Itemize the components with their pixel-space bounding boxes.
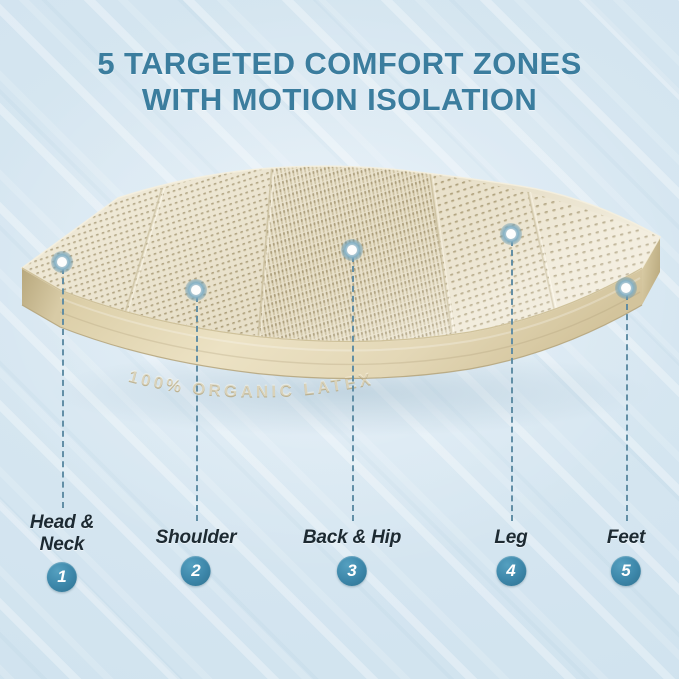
legend-item-3[interactable]: Back & Hip 3 [303,527,401,586]
zone-marker-1[interactable] [51,251,73,273]
zone-marker-2[interactable] [185,279,207,301]
leader-line-1 [62,268,64,508]
infographic-canvas: 5 TARGETED COMFORT ZONES WITH MOTION ISO… [0,0,679,679]
zone-marker-4[interactable] [500,223,522,245]
legend-item-4[interactable]: Leg 4 [494,527,527,586]
leader-line-3 [352,256,354,521]
legend-item-2[interactable]: Shoulder 2 [156,527,237,586]
zone-marker-3[interactable] [341,239,363,261]
legend-badge-4: 4 [496,556,526,586]
legend-badge-5: 5 [611,556,641,586]
legend-badge-3: 3 [337,556,367,586]
leader-line-2 [196,296,198,521]
legend-label-1: Head & Neck [30,512,94,555]
legend-label-4: Leg [494,527,527,549]
leader-line-4 [511,240,513,521]
legend-label-2: Shoulder [156,527,237,549]
leader-line-5 [626,294,628,521]
legend-item-5[interactable]: Feet 5 [607,527,645,586]
legend-label-3: Back & Hip [303,527,401,549]
zone-marker-5[interactable] [615,277,637,299]
legend-item-1[interactable]: Head & Neck 1 [30,512,94,592]
legend-badge-1: 1 [47,562,77,592]
legend-label-5: Feet [607,527,645,549]
legend-badge-2: 2 [181,556,211,586]
